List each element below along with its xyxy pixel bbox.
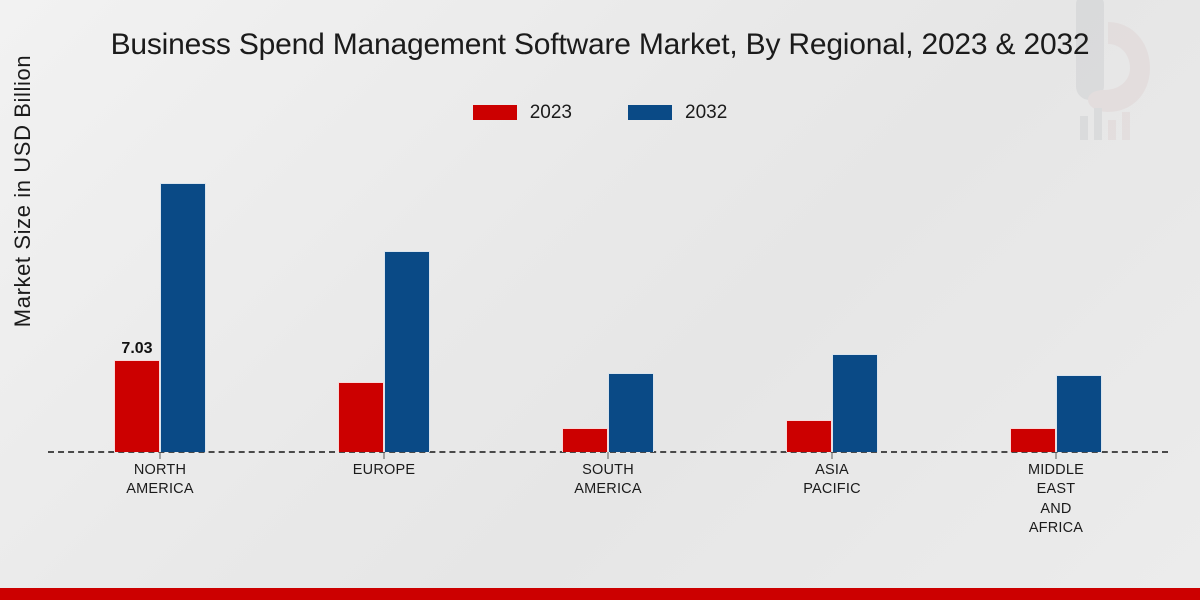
bar-pair [1010,375,1102,452]
legend-label-2023: 2023 [530,103,572,122]
x-axis-category-label: NORTH AMERICA [126,461,193,500]
bar-group: SOUTH AMERICA [496,150,720,452]
watermark-logo [1046,0,1166,144]
bar-2032[interactable] [1056,375,1102,452]
bar-2023[interactable] [1010,428,1056,452]
x-axis-category-label: SOUTH AMERICA [574,461,641,500]
legend-swatch-icon-2023 [473,105,517,120]
bar-pair [338,251,430,452]
x-axis-tick [832,452,833,459]
bar-2032[interactable] [160,183,206,452]
legend-label-2032: 2032 [685,103,727,122]
chart-legend: 2023 2032 [0,103,1200,122]
bar-pair [786,354,878,452]
bar-2032[interactable] [608,373,654,452]
x-axis-tick [1056,452,1057,459]
y-axis-title: Market Size in USD Billion [10,16,36,366]
legend-item-2032[interactable]: 2032 [628,103,727,122]
bar-pair: 7.03 [114,183,206,452]
bar-2023[interactable] [338,382,384,452]
bar-value-label: 7.03 [121,340,152,358]
bar-2023[interactable]: 7.03 [114,360,160,452]
legend-swatch-icon-2032 [628,105,672,120]
bar-group: 7.03NORTH AMERICA [48,150,272,452]
x-axis-tick [384,452,385,459]
bar-pair [562,373,654,452]
x-axis-category-label: EUROPE [353,461,415,480]
bar-2032[interactable] [832,354,878,452]
bar-group: MIDDLE EAST AND AFRICA [944,150,1168,452]
bar-2023[interactable] [786,420,832,452]
footer-accent-strip [0,588,1200,600]
x-axis-category-label: MIDDLE EAST AND AFRICA [1028,461,1084,538]
bar-group: ASIA PACIFIC [720,150,944,452]
bar-group: EUROPE [272,150,496,452]
plot-area: 7.03NORTH AMERICAEUROPESOUTH AMERICAASIA… [48,150,1168,452]
legend-item-2023[interactable]: 2023 [473,103,572,122]
x-axis-tick [608,452,609,459]
bar-2032[interactable] [384,251,430,452]
x-axis-tick [160,452,161,459]
bar-2023[interactable] [562,428,608,452]
chart-title: Business Spend Management Software Marke… [0,28,1200,62]
chart-container: Business Spend Management Software Marke… [0,0,1200,600]
x-axis-category-label: ASIA PACIFIC [803,461,861,500]
bar-groups: 7.03NORTH AMERICAEUROPESOUTH AMERICAASIA… [48,150,1168,452]
